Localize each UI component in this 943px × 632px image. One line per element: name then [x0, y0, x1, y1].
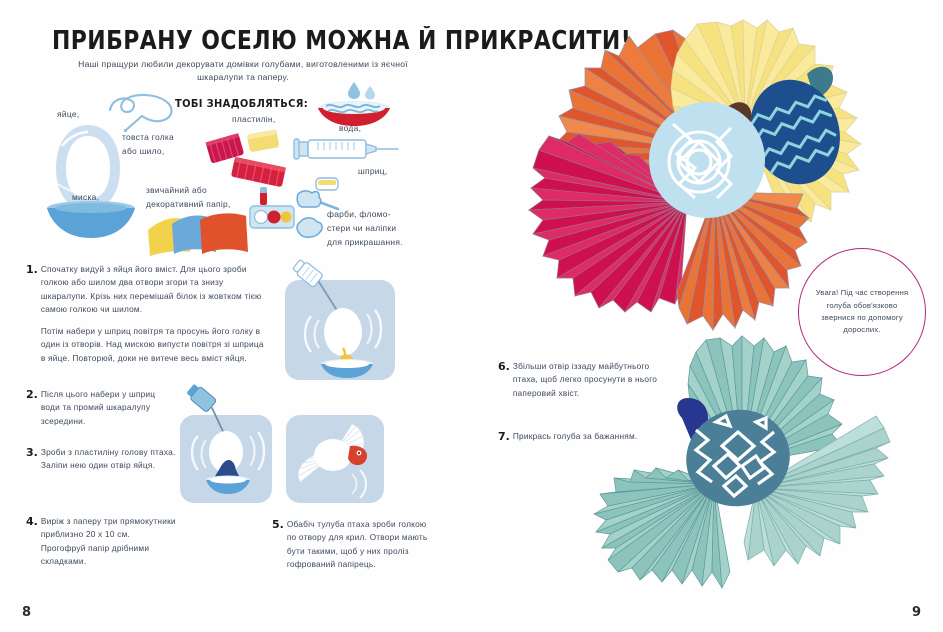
step-2-paragraph-1: Після цього набери у шприц води та проми… — [41, 388, 176, 428]
egg-blow-out-illustration — [285, 256, 403, 382]
step-5-paragraph-1: Обабіч тулуба птаха зроби голкою по отво… — [287, 518, 437, 572]
step-4-body: Виріж з паперу три прямокутники приблизн… — [41, 515, 176, 569]
materials-heading: ТОБІ ЗНАДОБЛЯТЬСЯ: — [175, 97, 308, 110]
material-label-paints-line3: для прикрашання. — [327, 236, 403, 249]
bowl-icon — [46, 200, 136, 242]
material-label-egg: яйце, — [57, 108, 79, 121]
step-5-body: Обабіч тулуба птаха зроби голкою по отво… — [287, 518, 437, 572]
step-1: 1. Спочатку видуй з яйця його вміст. Для… — [26, 263, 266, 365]
paper-stack-icon — [142, 206, 258, 260]
step-1-paragraph-1: Спочатку видуй з яйця його вміст. Для ць… — [41, 263, 266, 317]
material-label-needle-line2: або шило, — [122, 145, 165, 158]
material-label-needle-line1: товста голка — [122, 131, 174, 144]
step-2-number: 2. — [26, 388, 38, 428]
material-label-bowl: миска, — [72, 191, 99, 204]
syringe-icon — [292, 133, 400, 165]
step-6-number: 6. — [498, 360, 510, 400]
step-1-number: 1. — [26, 263, 38, 365]
step-5-number: 5. — [272, 518, 284, 572]
step-5: 5. Обабіч тулуба птаха зроби голкою по о… — [272, 518, 437, 572]
book-spread: ПРИБРАНУ ОСЕЛЮ МОЖНА Й ПРИКРАСИТИ! Наші … — [0, 0, 943, 632]
page-number-left: 8 — [22, 605, 31, 620]
material-label-plasticine: пластилін, — [232, 113, 275, 126]
material-label-paints-line2: стери чи наліпки — [327, 222, 396, 235]
needle-icon — [106, 92, 182, 134]
step-4-number: 4. — [26, 515, 38, 569]
page-number-right: 9 — [912, 605, 921, 620]
step-3: 3. Зроби з пластиліну голову птаха. Залі… — [26, 446, 176, 473]
step-2: 2. Після цього набери у шприц води та пр… — [26, 388, 176, 428]
step-3-paragraph-1: Зроби з пластиліну голову птаха. Заліпи … — [41, 446, 176, 473]
material-label-syringe: шприц, — [358, 165, 388, 178]
material-label-paper-line2: декоративний папір, — [146, 198, 231, 211]
step-1-paragraph-2: Потім набери у шприц повітря та просунь … — [41, 325, 266, 365]
step-4-paragraph-1: Виріж з паперу три прямокутники приблизн… — [41, 515, 176, 569]
material-label-paints-line1: фарби, фломо- — [327, 208, 391, 221]
egg-wings-illustration — [286, 408, 390, 508]
step-3-body: Зроби з пластиліну голову птаха. Заліпи … — [41, 446, 176, 473]
step-2-body: Після цього набери у шприц води та проми… — [41, 388, 176, 428]
water-bowl-icon — [308, 80, 400, 128]
warning-note-text: Увага! Під час створення голуба обов'язк… — [811, 287, 913, 336]
step-3-number: 3. — [26, 446, 38, 473]
step-4: 4. Виріж з паперу три прямокутники прибл… — [26, 515, 176, 569]
paper-fan-dove-teal-illustration — [588, 336, 922, 604]
step-7-number: 7. — [498, 430, 510, 443]
step-1-body: Спочатку видуй з яйця його вміст. Для ць… — [41, 263, 266, 365]
material-label-paper-line1: звичайний або — [146, 184, 207, 197]
egg-rinse-illustration — [176, 386, 280, 506]
